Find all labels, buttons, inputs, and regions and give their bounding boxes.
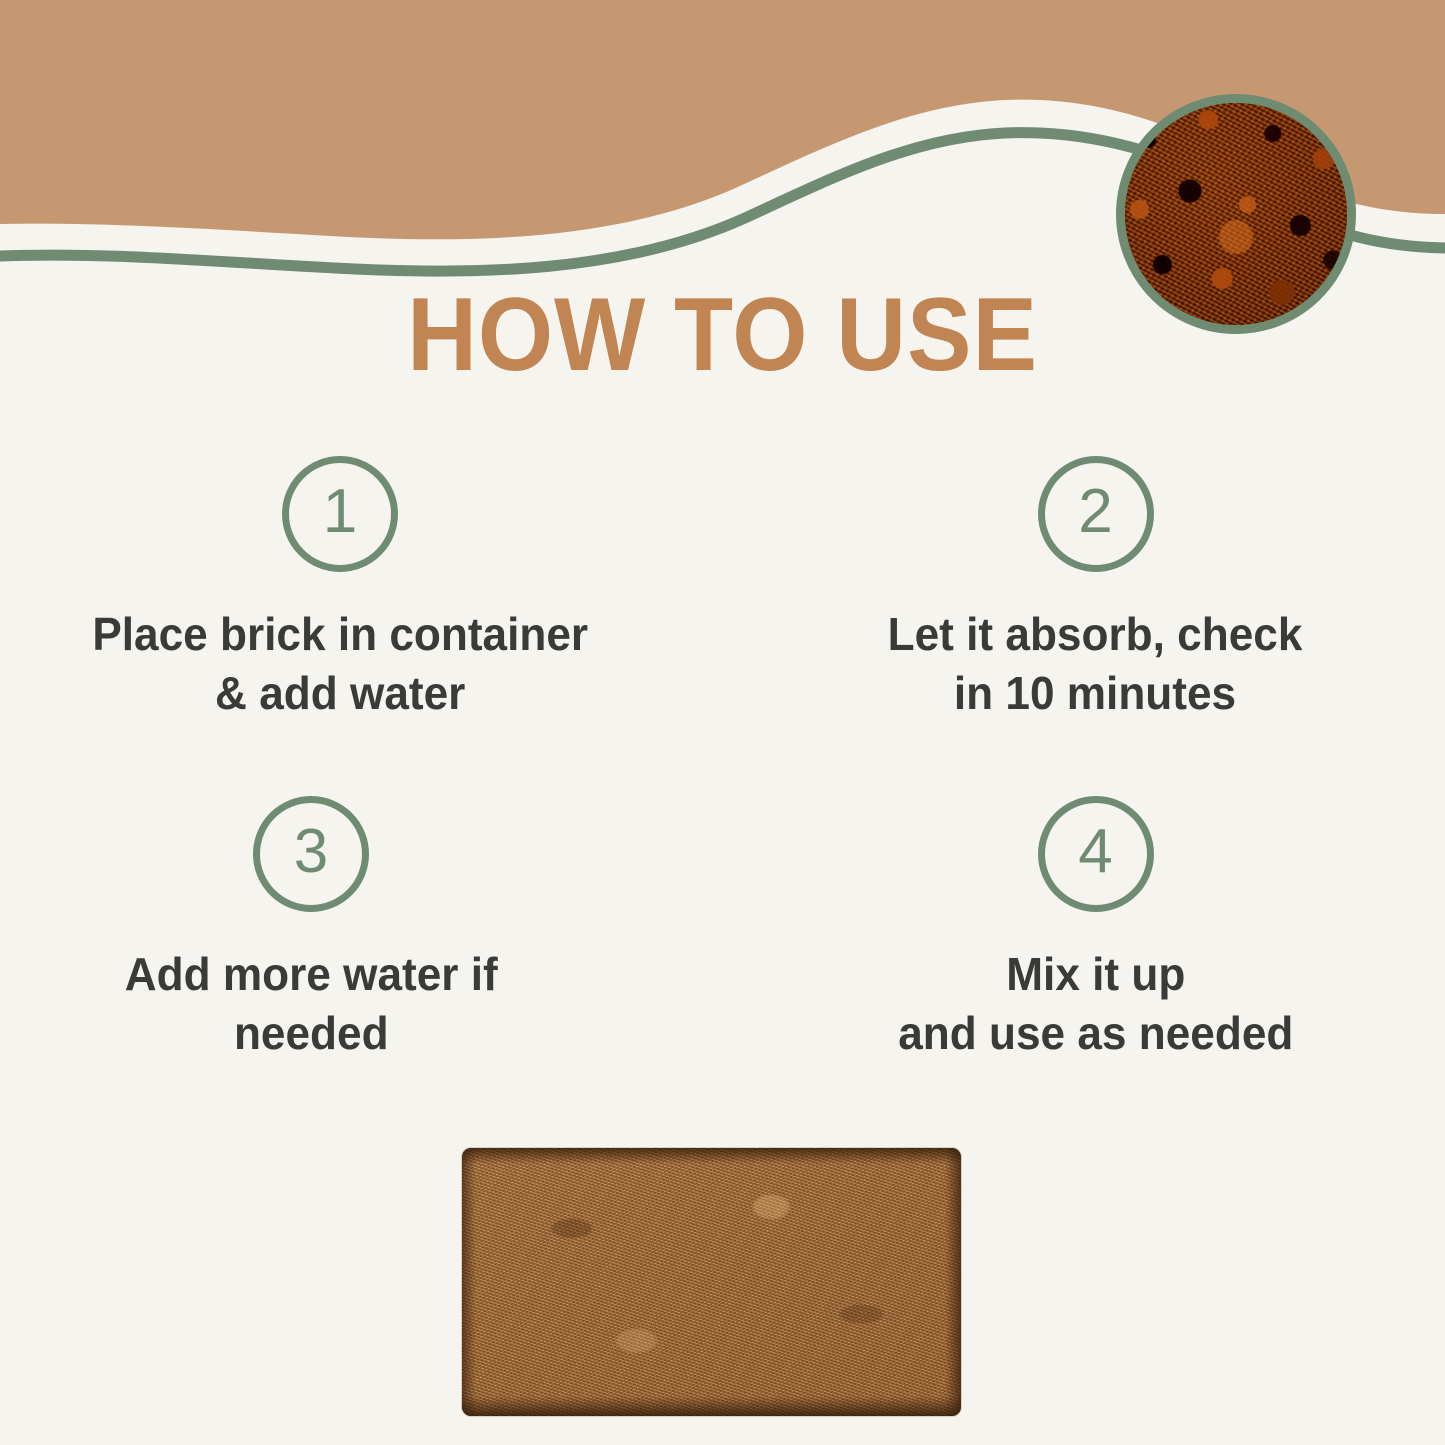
step-number-4: 4 <box>1078 821 1112 883</box>
brick-texture <box>462 1148 961 1416</box>
step-text-3: Add more water if needed <box>125 945 498 1063</box>
page-title: HOW TO USE <box>51 283 1395 387</box>
step-2: 2 Let it absorb, check in 10 minutes <box>722 448 1445 788</box>
brick-edge-left <box>462 1148 476 1416</box>
step-number-3: 3 <box>294 821 328 883</box>
step-number-badge-1: 1 <box>282 456 398 572</box>
coco-coir-brick-image <box>462 1148 961 1416</box>
brick-edge-top <box>462 1148 961 1164</box>
infographic-canvas: HOW TO USE 1 Place brick in container & … <box>0 0 1445 1445</box>
step-3: 3 Add more water if needed <box>0 788 722 1128</box>
step-number-1: 1 <box>323 481 357 543</box>
step-number-badge-4: 4 <box>1038 796 1154 912</box>
step-text-4: Mix it up and use as needed <box>898 945 1293 1063</box>
step-text-2: Let it absorb, check in 10 minutes <box>888 605 1303 723</box>
step-number-badge-2: 2 <box>1038 456 1154 572</box>
brick-edge-right <box>945 1148 961 1416</box>
step-text-1: Place brick in container & add water <box>92 605 588 723</box>
step-number-2: 2 <box>1078 481 1112 543</box>
steps-grid: 1 Place brick in container & add water 2… <box>0 448 1445 1128</box>
step-number-badge-3: 3 <box>253 796 369 912</box>
step-1: 1 Place brick in container & add water <box>0 448 722 788</box>
step-4: 4 Mix it up and use as needed <box>722 788 1445 1128</box>
brick-edge-bottom <box>462 1396 961 1416</box>
